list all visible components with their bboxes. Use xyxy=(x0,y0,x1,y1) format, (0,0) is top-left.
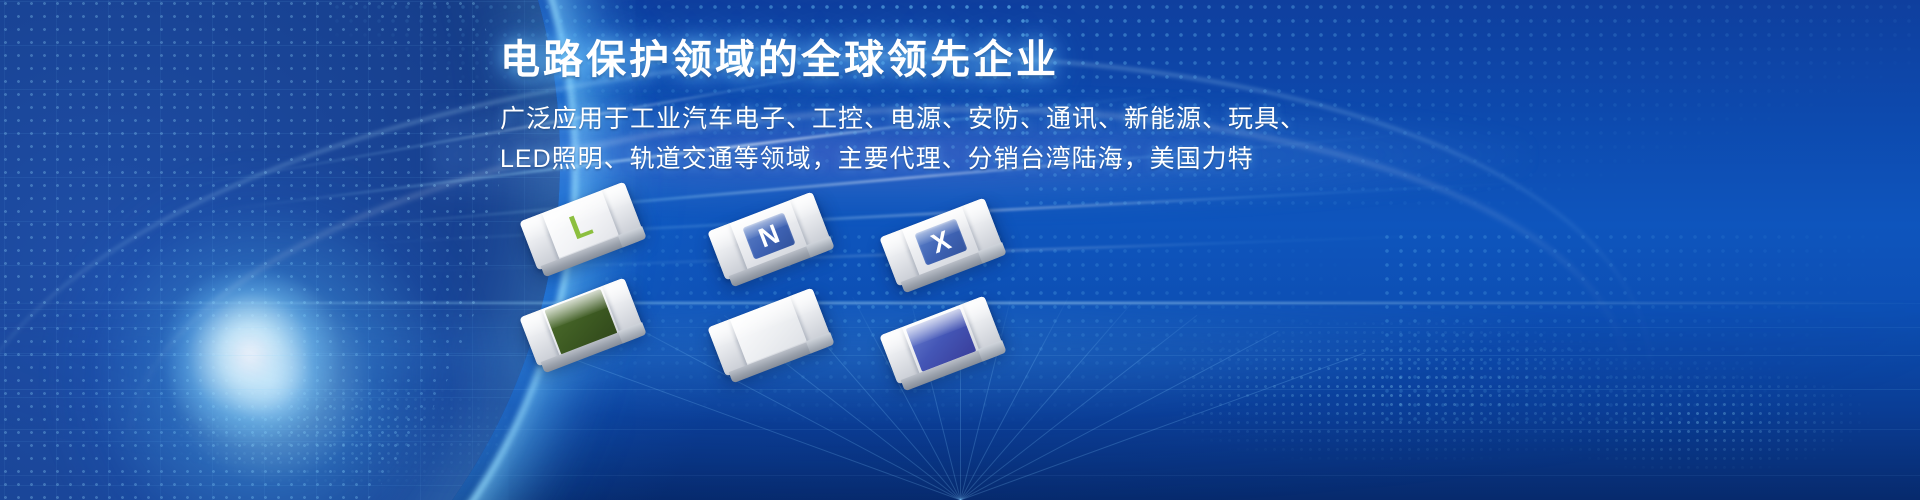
chip-marking-text: L xyxy=(565,206,597,245)
banner-copy: 电路保护领域的全球领先企业 广泛应用于工业汽车电子、工控、电源、安防、通讯、新能… xyxy=(500,36,1500,180)
world-map-dots-left xyxy=(60,350,580,500)
chip-marking-text: N xyxy=(755,220,783,252)
chip-fuse-n: N xyxy=(707,192,830,281)
hero-banner: 电路保护领域的全球领先企业 广泛应用于工业汽车电子、工控、电源、安防、通讯、新能… xyxy=(0,0,1920,500)
banner-subline-1: 广泛应用于工业汽车电子、工控、电源、安防、通讯、新能源、玩具、 xyxy=(500,99,1500,140)
world-map-dots-right xyxy=(1180,310,1900,490)
chip-marking-text: X xyxy=(928,226,954,258)
banner-headline: 电路保护领域的全球领先企业 xyxy=(500,36,1500,85)
product-chip-group: L N X xyxy=(515,188,1035,378)
chip-fuse-l: L xyxy=(519,182,642,271)
banner-subline-2: LED照明、轨道交通等领域，主要代理、分销台湾陆海，美国力特 xyxy=(500,139,1500,180)
chip-fuse-violet xyxy=(879,296,1002,385)
chip-fuse-x: X xyxy=(879,198,1002,287)
chip-fuse-blank xyxy=(707,288,830,377)
chip-fuse-green xyxy=(519,278,642,367)
